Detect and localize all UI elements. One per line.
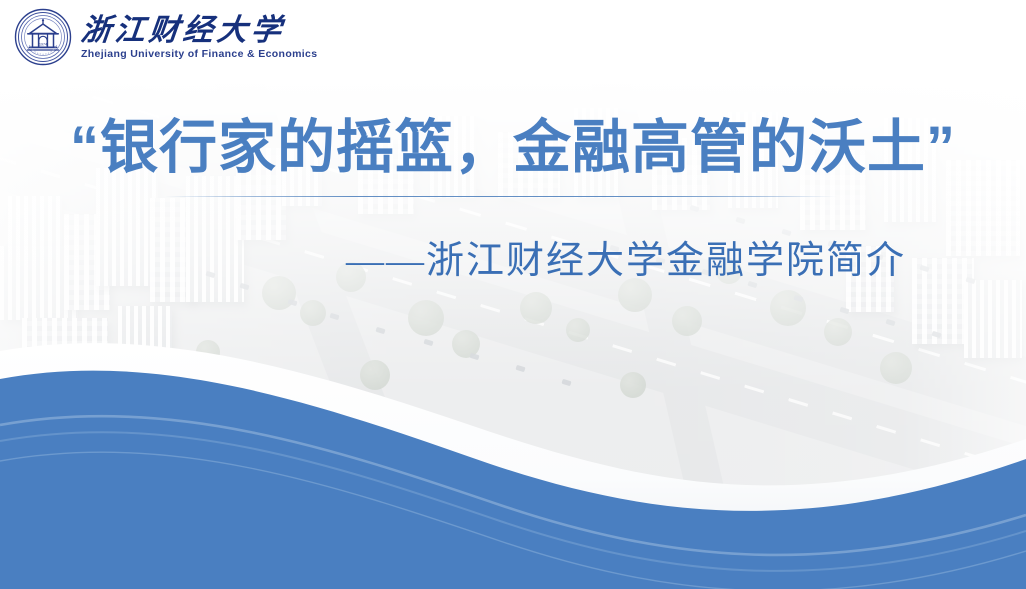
logo-name-cn: 浙江财经大学 [79,15,319,47]
emblem-year-text: 1974 [39,42,47,46]
slide-main-title: “银行家的摇篮，金融高管的沃土” [0,114,1026,182]
bottom-wave-decoration [0,329,1026,589]
logo-text-block: 浙江财经大学 Zhejiang University of Finance & … [81,13,317,61]
slide-header: 1974 浙江财经大学 Zhejiang University of Finan… [0,0,1026,78]
university-logo: 1974 浙江财经大学 Zhejiang University of Finan… [14,8,317,66]
zufe-emblem-icon: 1974 [14,8,72,66]
presentation-slide: 1974 浙江财经大学 Zhejiang University of Finan… [0,0,1026,589]
logo-name-en: Zhejiang University of Finance & Economi… [81,48,317,61]
title-divider-line [165,196,837,197]
slide-subtitle: ——浙江财经大学金融学院简介 [0,238,1026,286]
